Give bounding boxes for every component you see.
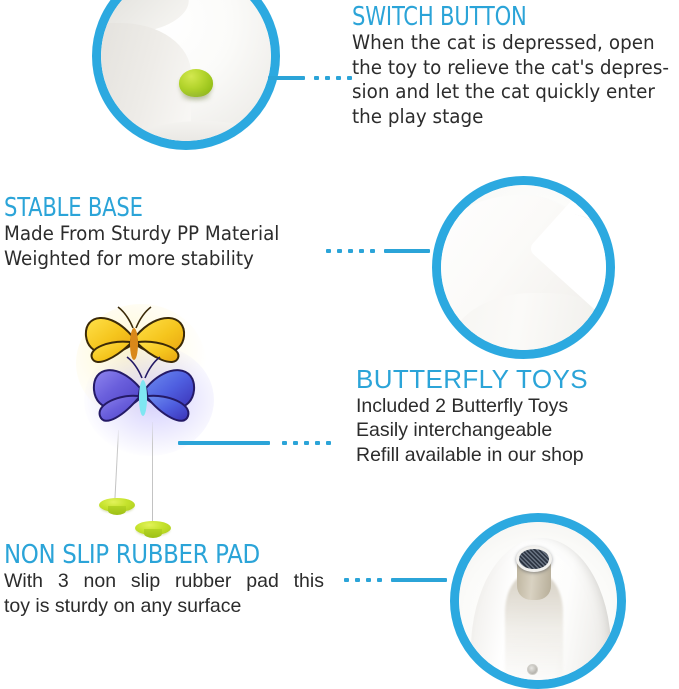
stable-base-photo-inner bbox=[441, 185, 606, 350]
feature-body-line: When the cat is depressed, open bbox=[352, 31, 655, 56]
feature-body-butterfly-toys: Included 2 Butterfly Toys Easily interch… bbox=[356, 394, 676, 468]
feature-body-line: sion and let the cat quickly enter bbox=[352, 80, 655, 105]
feature-switch-button: SWITCH BUTTON When the cat is depressed,… bbox=[352, 4, 679, 129]
product-infographic: SWITCH BUTTON When the cat is depressed,… bbox=[0, 0, 679, 685]
switch-button-photo-inner bbox=[101, 0, 271, 141]
feature-title-stable-base: STABLE BASE bbox=[4, 195, 308, 222]
connector-switch-button bbox=[268, 76, 352, 80]
rubber-pad-photo-inner bbox=[459, 522, 617, 680]
butterfly-toys-photo bbox=[70, 302, 220, 537]
base-edge-highlight bbox=[527, 209, 606, 308]
connector-butterfly-toys bbox=[178, 441, 350, 445]
non-slip-rubber-pad-icon bbox=[516, 546, 552, 572]
feature-body-line: With 3 non slip rubber pad this bbox=[4, 569, 324, 594]
feature-body-non-slip-rubber-pad: With 3 non slip rubber pad this toy is s… bbox=[4, 569, 344, 618]
feature-butterfly-toys: BUTTERFLY TOYS Included 2 Butterfly Toys… bbox=[356, 366, 676, 467]
stable-base-photo bbox=[432, 176, 615, 359]
feature-body-line: Included 2 Butterfly Toys bbox=[356, 394, 676, 419]
feature-body-line: Refill available in our shop bbox=[356, 443, 676, 468]
feature-title-switch-button: SWITCH BUTTON bbox=[352, 4, 656, 31]
connector-stable-base bbox=[326, 249, 434, 253]
feature-title-butterfly-toys: BUTTERFLY TOYS bbox=[356, 366, 676, 394]
green-switch-button-icon bbox=[179, 69, 213, 97]
screw-icon bbox=[527, 664, 538, 675]
feature-body-line: the toy to relieve the cat's depres- bbox=[352, 56, 655, 81]
feature-body-line: the play stage bbox=[352, 105, 662, 130]
feature-body-stable-base: Made From Sturdy PP Material Weighted fo… bbox=[4, 222, 314, 271]
switch-button-photo bbox=[92, 0, 280, 150]
connector-non-slip-pad bbox=[344, 578, 452, 582]
feature-title-non-slip-rubber-pad: NON SLIP RUBBER PAD bbox=[4, 542, 310, 569]
yellow-butterfly bbox=[86, 307, 184, 362]
feature-body-line: Weighted for more stability bbox=[4, 247, 314, 272]
blue-butterfly bbox=[94, 357, 194, 421]
butterfly-wire-right bbox=[152, 422, 153, 530]
feature-body-line: Made From Sturdy PP Material bbox=[4, 222, 314, 247]
feature-stable-base: STABLE BASE Made From Sturdy PP Material… bbox=[4, 195, 334, 271]
butterfly-cap-right bbox=[135, 521, 171, 535]
butterfly-cap-left bbox=[99, 498, 135, 512]
feature-body-line: Easily interchangeable bbox=[356, 418, 676, 443]
feature-non-slip-rubber-pad: NON SLIP RUBBER PAD With 3 non slip rubb… bbox=[4, 542, 344, 618]
feature-body-line: toy is sturdy on any surface bbox=[4, 594, 344, 619]
rubber-pad-photo bbox=[450, 513, 626, 689]
feature-body-switch-button: When the cat is depressed, open the toy … bbox=[352, 31, 662, 129]
